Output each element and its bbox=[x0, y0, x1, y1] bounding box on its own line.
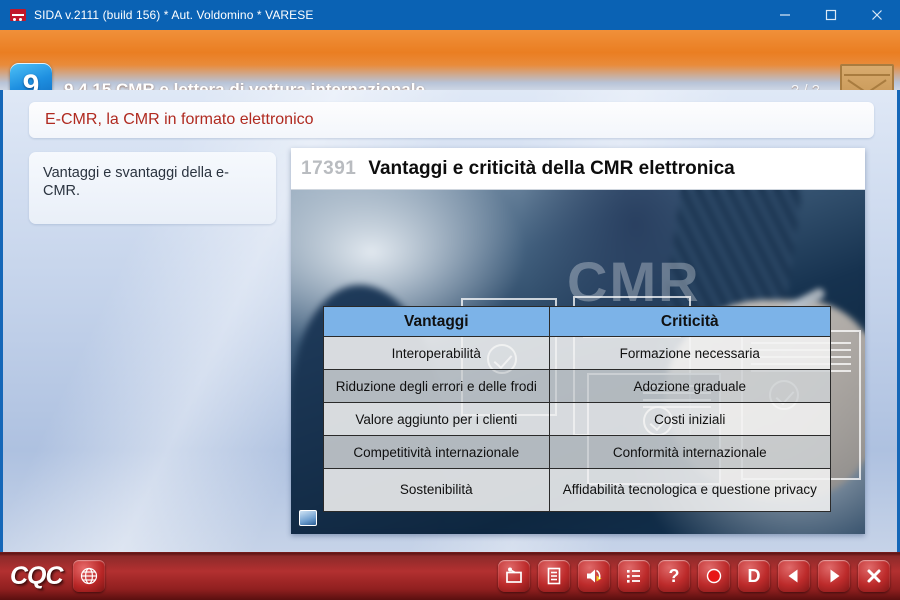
cell-criticita: Affidabilità tecnologica e questione pri… bbox=[549, 469, 830, 512]
note-text: Vantaggi e svantaggi della e-CMR. bbox=[43, 164, 262, 200]
minimize-button[interactable] bbox=[762, 0, 808, 30]
d-icon[interactable]: D bbox=[738, 560, 770, 592]
truck-icon bbox=[10, 7, 26, 23]
title-bar: SIDA v.2111 (build 156) * Aut. Voldomino… bbox=[0, 0, 900, 30]
window-title: SIDA v.2111 (build 156) * Aut. Voldomino… bbox=[34, 8, 314, 22]
image-thumbnail-icon[interactable] bbox=[299, 510, 317, 526]
table-row: Interoperabilità Formazione necessaria bbox=[324, 337, 831, 370]
cell-vantaggio: Valore aggiunto per i clienti bbox=[324, 403, 550, 436]
slide-header: 17391 Vantaggi e criticità della CMR ele… bbox=[291, 148, 865, 190]
next-icon[interactable] bbox=[818, 560, 850, 592]
chapter-badge: 9 bbox=[10, 63, 52, 90]
crate-icon bbox=[840, 64, 894, 90]
slide-panel[interactable]: 17391 Vantaggi e criticità della CMR ele… bbox=[291, 148, 865, 534]
cell-criticita: Formazione necessaria bbox=[549, 337, 830, 370]
table-header-row: Vantaggi Criticità bbox=[324, 307, 831, 337]
record-icon[interactable] bbox=[698, 560, 730, 592]
close-icon[interactable] bbox=[858, 560, 890, 592]
chapter-number: 9 bbox=[23, 71, 40, 90]
previous-icon[interactable] bbox=[778, 560, 810, 592]
table-row: Riduzione degli errori e delle frodi Ado… bbox=[324, 370, 831, 403]
column-header-vantaggi: Vantaggi bbox=[324, 307, 550, 337]
list-icon[interactable] bbox=[618, 560, 650, 592]
comparison-table: Vantaggi Criticità Interoperabilità Form… bbox=[323, 306, 831, 512]
slide-title: Vantaggi e criticità della CMR elettroni… bbox=[368, 158, 734, 180]
section-subtitle-bar: E-CMR, la CMR in formato elettronico bbox=[29, 102, 874, 138]
cell-vantaggio: Sostenibilità bbox=[324, 469, 550, 512]
cell-criticita: Conformità internazionale bbox=[549, 436, 830, 469]
bottom-toolbar: CQC bbox=[0, 552, 900, 600]
lesson-title: 9.4.15 CMR e lettera di vettura internaz… bbox=[64, 80, 425, 90]
audio-play-icon[interactable] bbox=[578, 560, 610, 592]
table-row: Valore aggiunto per i clienti Costi iniz… bbox=[324, 403, 831, 436]
cell-criticita: Costi iniziali bbox=[549, 403, 830, 436]
cell-vantaggio: Interoperabilità bbox=[324, 337, 550, 370]
table-row: Sostenibilità Affidabilità tecnologica e… bbox=[324, 469, 831, 512]
present-icon[interactable] bbox=[498, 560, 530, 592]
cell-criticita: Adozione graduale bbox=[549, 370, 830, 403]
page-indicator: 2 / 2 bbox=[791, 82, 820, 90]
help-icon[interactable]: ? bbox=[658, 560, 690, 592]
note-panel: Vantaggi e svantaggi della e-CMR. bbox=[29, 152, 276, 224]
globe-icon[interactable] bbox=[73, 560, 105, 592]
section-subtitle: E-CMR, la CMR in formato elettronico bbox=[45, 111, 314, 129]
column-header-criticita: Criticità bbox=[549, 307, 830, 337]
cqc-logo: CQC bbox=[10, 562, 63, 591]
document-icon[interactable] bbox=[538, 560, 570, 592]
content-area: E-CMR, la CMR in formato elettronico Van… bbox=[0, 90, 900, 552]
table-row: Competitività internazionale Conformità … bbox=[324, 436, 831, 469]
slide-id: 17391 bbox=[301, 158, 356, 180]
close-button[interactable] bbox=[854, 0, 900, 30]
lesson-header: 9 9.4.15 CMR e lettera di vettura intern… bbox=[0, 30, 900, 90]
cell-vantaggio: Competitività internazionale bbox=[324, 436, 550, 469]
cell-vantaggio: Riduzione degli errori e delle frodi bbox=[324, 370, 550, 403]
application-window: SIDA v.2111 (build 156) * Aut. Voldomino… bbox=[0, 0, 900, 600]
maximize-button[interactable] bbox=[808, 0, 854, 30]
